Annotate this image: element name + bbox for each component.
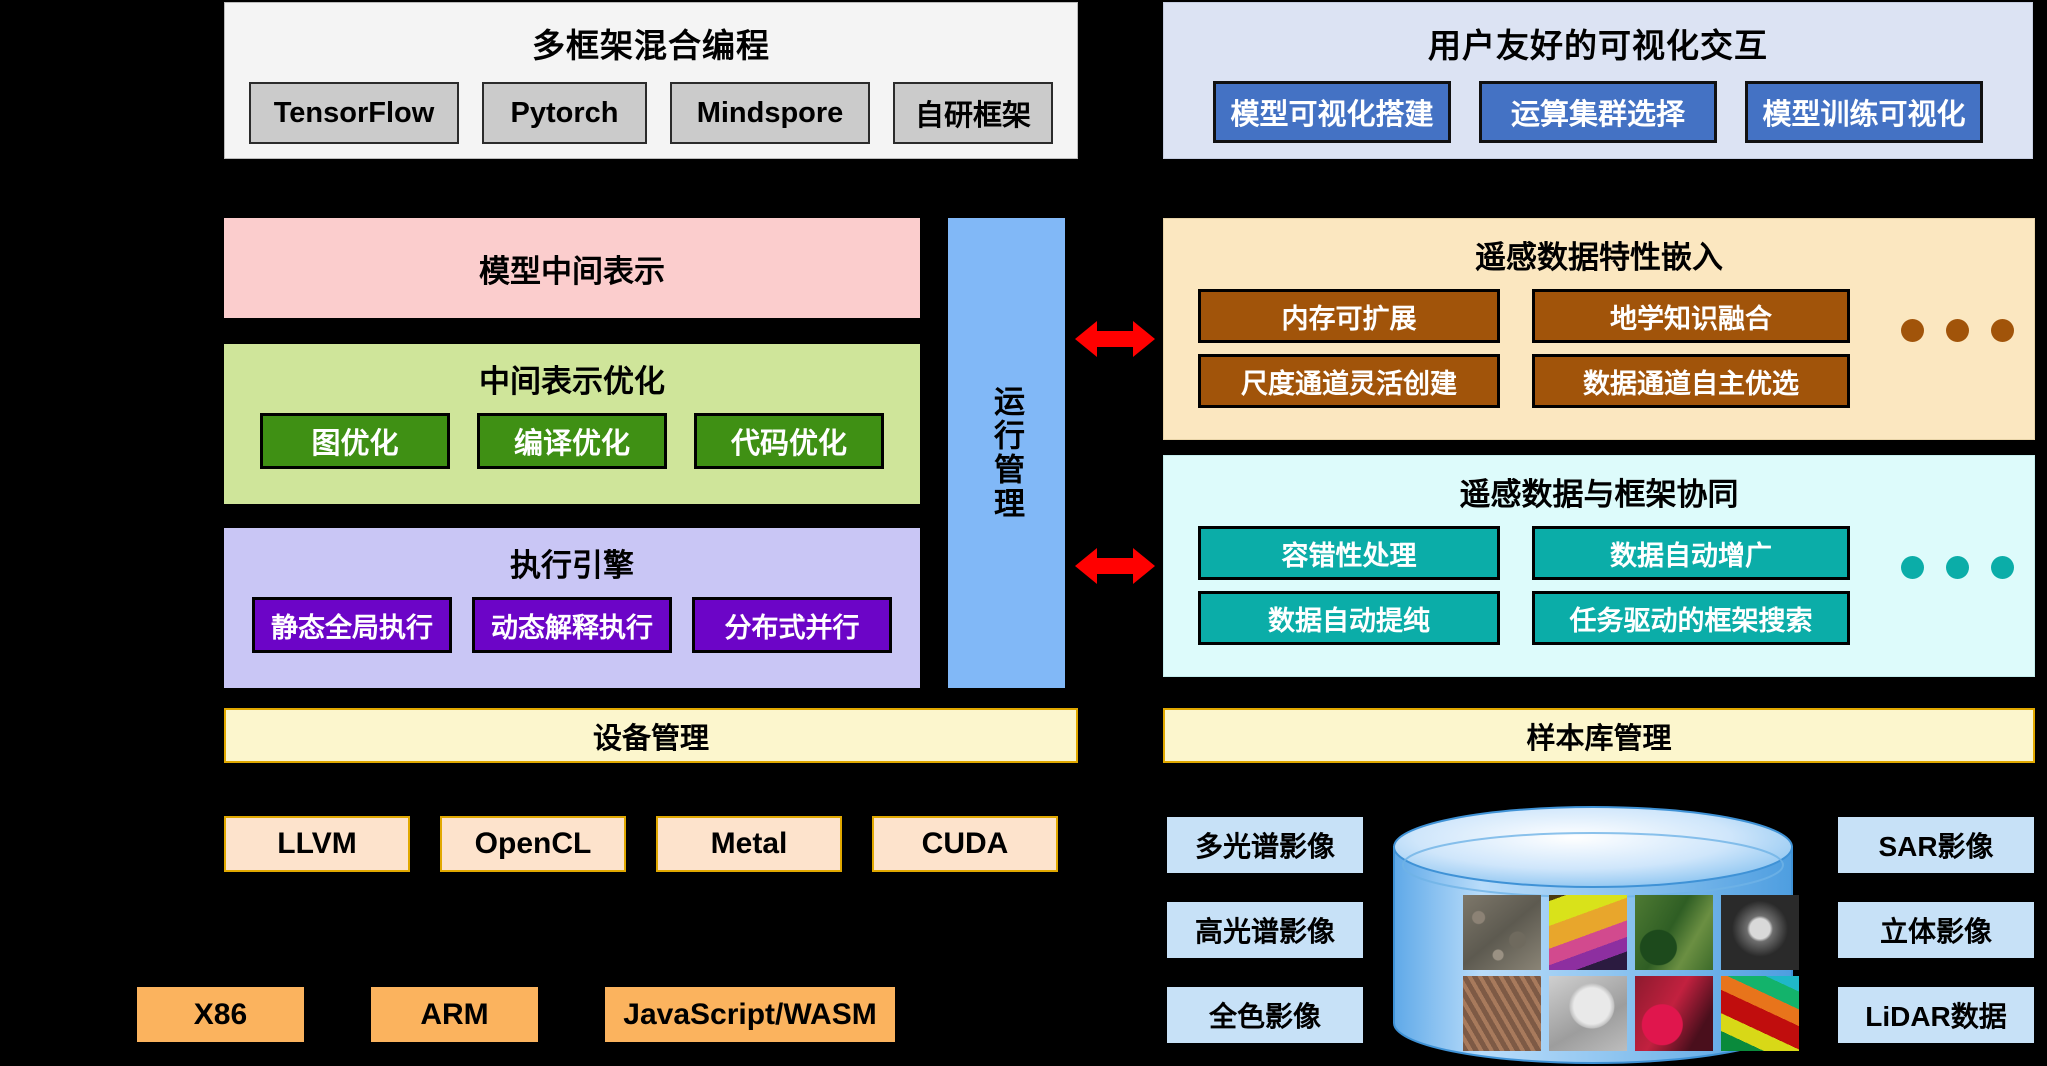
- remote-sensing-embedding-title: 遥感数据特性嵌入: [1475, 232, 1723, 277]
- sample-thumbnail: [1721, 895, 1799, 970]
- vis-chip-model-builder[interactable]: 模型可视化搭建: [1213, 81, 1451, 143]
- execution-engine-panel: 执行引擎 静态全局执行 动态解释执行 分布式并行: [224, 528, 920, 688]
- model-ir-panel: 模型中间表示: [224, 218, 920, 318]
- image-type-stereo[interactable]: 立体影像: [1838, 902, 2034, 958]
- framework-chip-inhouse[interactable]: 自研框架: [893, 82, 1053, 144]
- sample-thumbnail: [1635, 976, 1713, 1051]
- data-framework-synergy-title: 遥感数据与框架协同: [1460, 469, 1739, 514]
- image-types-left-column: 多光谱影像 高光谱影像 全色影像: [1167, 817, 1363, 1043]
- sample-library-management-bar[interactable]: 样本库管理: [1163, 708, 2035, 763]
- hardware-chip-x86[interactable]: X86: [137, 987, 304, 1042]
- sample-thumbnail: [1463, 976, 1541, 1051]
- visualization-title: 用户友好的可视化交互: [1428, 19, 1768, 67]
- rs-chip-scale-channel[interactable]: 尺度通道灵活创建: [1198, 354, 1500, 408]
- ir-opt-chip-code[interactable]: 代码优化: [694, 413, 884, 469]
- image-type-sar[interactable]: SAR影像: [1838, 817, 2034, 873]
- framework-chip-pytorch[interactable]: Pytorch: [482, 82, 647, 144]
- visualization-panel: 用户友好的可视化交互 模型可视化搭建 运算集群选择 模型训练可视化: [1163, 2, 2033, 159]
- sample-thumbnail: [1635, 895, 1713, 970]
- multi-framework-title: 多框架混合编程: [532, 19, 770, 67]
- vis-chip-cluster-select[interactable]: 运算集群选择: [1479, 81, 1717, 143]
- hardware-chip-arm[interactable]: ARM: [371, 987, 538, 1042]
- ir-opt-chip-graph[interactable]: 图优化: [260, 413, 450, 469]
- framework-chip-tensorflow[interactable]: TensorFlow: [249, 82, 459, 144]
- runtime-management-bar: 运行管理: [948, 218, 1065, 688]
- image-type-lidar[interactable]: LiDAR数据: [1838, 987, 2034, 1043]
- hardware-row: X86 ARM JavaScript/WASM: [137, 987, 895, 1042]
- backend-chip-metal[interactable]: Metal: [656, 816, 842, 872]
- exec-chip-dynamic-interp[interactable]: 动态解释执行: [472, 597, 672, 653]
- sample-thumbnail: [1549, 895, 1627, 970]
- rs-chip-channel-selection[interactable]: 数据通道自主优选: [1532, 354, 1850, 408]
- framework-chip-row: TensorFlow Pytorch Mindspore 自研框架: [249, 82, 1053, 144]
- syn-chip-task-driven-nas[interactable]: 任务驱动的框架搜索: [1532, 591, 1850, 645]
- sample-thumbnail: [1463, 895, 1541, 970]
- hardware-chip-javascript-wasm[interactable]: JavaScript/WASM: [605, 987, 895, 1042]
- ir-opt-chip-compile[interactable]: 编译优化: [477, 413, 667, 469]
- syn-chip-fault-tolerance[interactable]: 容错性处理: [1198, 526, 1500, 580]
- syn-chip-auto-augment[interactable]: 数据自动增广: [1532, 526, 1850, 580]
- remote-sensing-chip-grid: 内存可扩展 地学知识融合 尺度通道灵活创建 数据通道自主优选: [1198, 289, 1850, 408]
- syn-chip-auto-refine[interactable]: 数据自动提纯: [1198, 591, 1500, 645]
- execution-engine-chip-row: 静态全局执行 动态解释执行 分布式并行: [252, 597, 892, 653]
- ellipsis-dots-icon-remote-sensing: [1901, 319, 2014, 342]
- backend-row: LLVM OpenCL Metal CUDA: [224, 816, 1058, 872]
- ir-optimization-title: 中间表示优化: [479, 356, 665, 401]
- sample-database-cylinder: [1388, 805, 1798, 1065]
- data-framework-synergy-panel: 遥感数据与框架协同 容错性处理 数据自动增广 数据自动提纯 任务驱动的框架搜索: [1163, 455, 2035, 677]
- runtime-management-label: 运行管理: [984, 385, 1029, 521]
- image-types-right-column: SAR影像 立体影像 LiDAR数据: [1838, 817, 2034, 1043]
- device-management-bar[interactable]: 设备管理: [224, 708, 1078, 763]
- sample-thumbnail: [1721, 976, 1799, 1051]
- image-type-hyperspectral[interactable]: 高光谱影像: [1167, 902, 1363, 958]
- multi-framework-panel: 多框架混合编程 TensorFlow Pytorch Mindspore 自研框…: [224, 2, 1078, 159]
- ir-optimization-panel: 中间表示优化 图优化 编译优化 代码优化: [224, 344, 920, 504]
- image-type-panchromatic[interactable]: 全色影像: [1167, 987, 1363, 1043]
- remote-sensing-embedding-panel: 遥感数据特性嵌入 内存可扩展 地学知识融合 尺度通道灵活创建 数据通道自主优选: [1163, 218, 2035, 440]
- vis-chip-train-monitor[interactable]: 模型训练可视化: [1745, 81, 1983, 143]
- rs-chip-memory-scalable[interactable]: 内存可扩展: [1198, 289, 1500, 343]
- framework-chip-mindspore[interactable]: Mindspore: [670, 82, 870, 144]
- image-type-multispectral[interactable]: 多光谱影像: [1167, 817, 1363, 873]
- sample-thumbnail: [1549, 976, 1627, 1051]
- backend-chip-opencl[interactable]: OpenCL: [440, 816, 626, 872]
- model-ir-title: 模型中间表示: [479, 246, 665, 291]
- ellipsis-dots-icon-synergy: [1901, 556, 2014, 579]
- visualization-chip-row: 模型可视化搭建 运算集群选择 模型训练可视化: [1213, 81, 1983, 143]
- ir-optimization-chip-row: 图优化 编译优化 代码优化: [260, 413, 884, 469]
- bidirectional-arrow-icon-top: [1075, 318, 1155, 365]
- exec-chip-distributed[interactable]: 分布式并行: [692, 597, 892, 653]
- sample-thumbnail-grid: [1463, 895, 1799, 1051]
- backend-chip-cuda[interactable]: CUDA: [872, 816, 1058, 872]
- backend-chip-llvm[interactable]: LLVM: [224, 816, 410, 872]
- architecture-diagram: 多框架混合编程 TensorFlow Pytorch Mindspore 自研框…: [0, 0, 2047, 1066]
- execution-engine-title: 执行引擎: [510, 540, 634, 585]
- synergy-chip-grid: 容错性处理 数据自动增广 数据自动提纯 任务驱动的框架搜索: [1198, 526, 1850, 645]
- exec-chip-static-global[interactable]: 静态全局执行: [252, 597, 452, 653]
- bidirectional-arrow-icon-bottom: [1075, 545, 1155, 592]
- rs-chip-geo-knowledge[interactable]: 地学知识融合: [1532, 289, 1850, 343]
